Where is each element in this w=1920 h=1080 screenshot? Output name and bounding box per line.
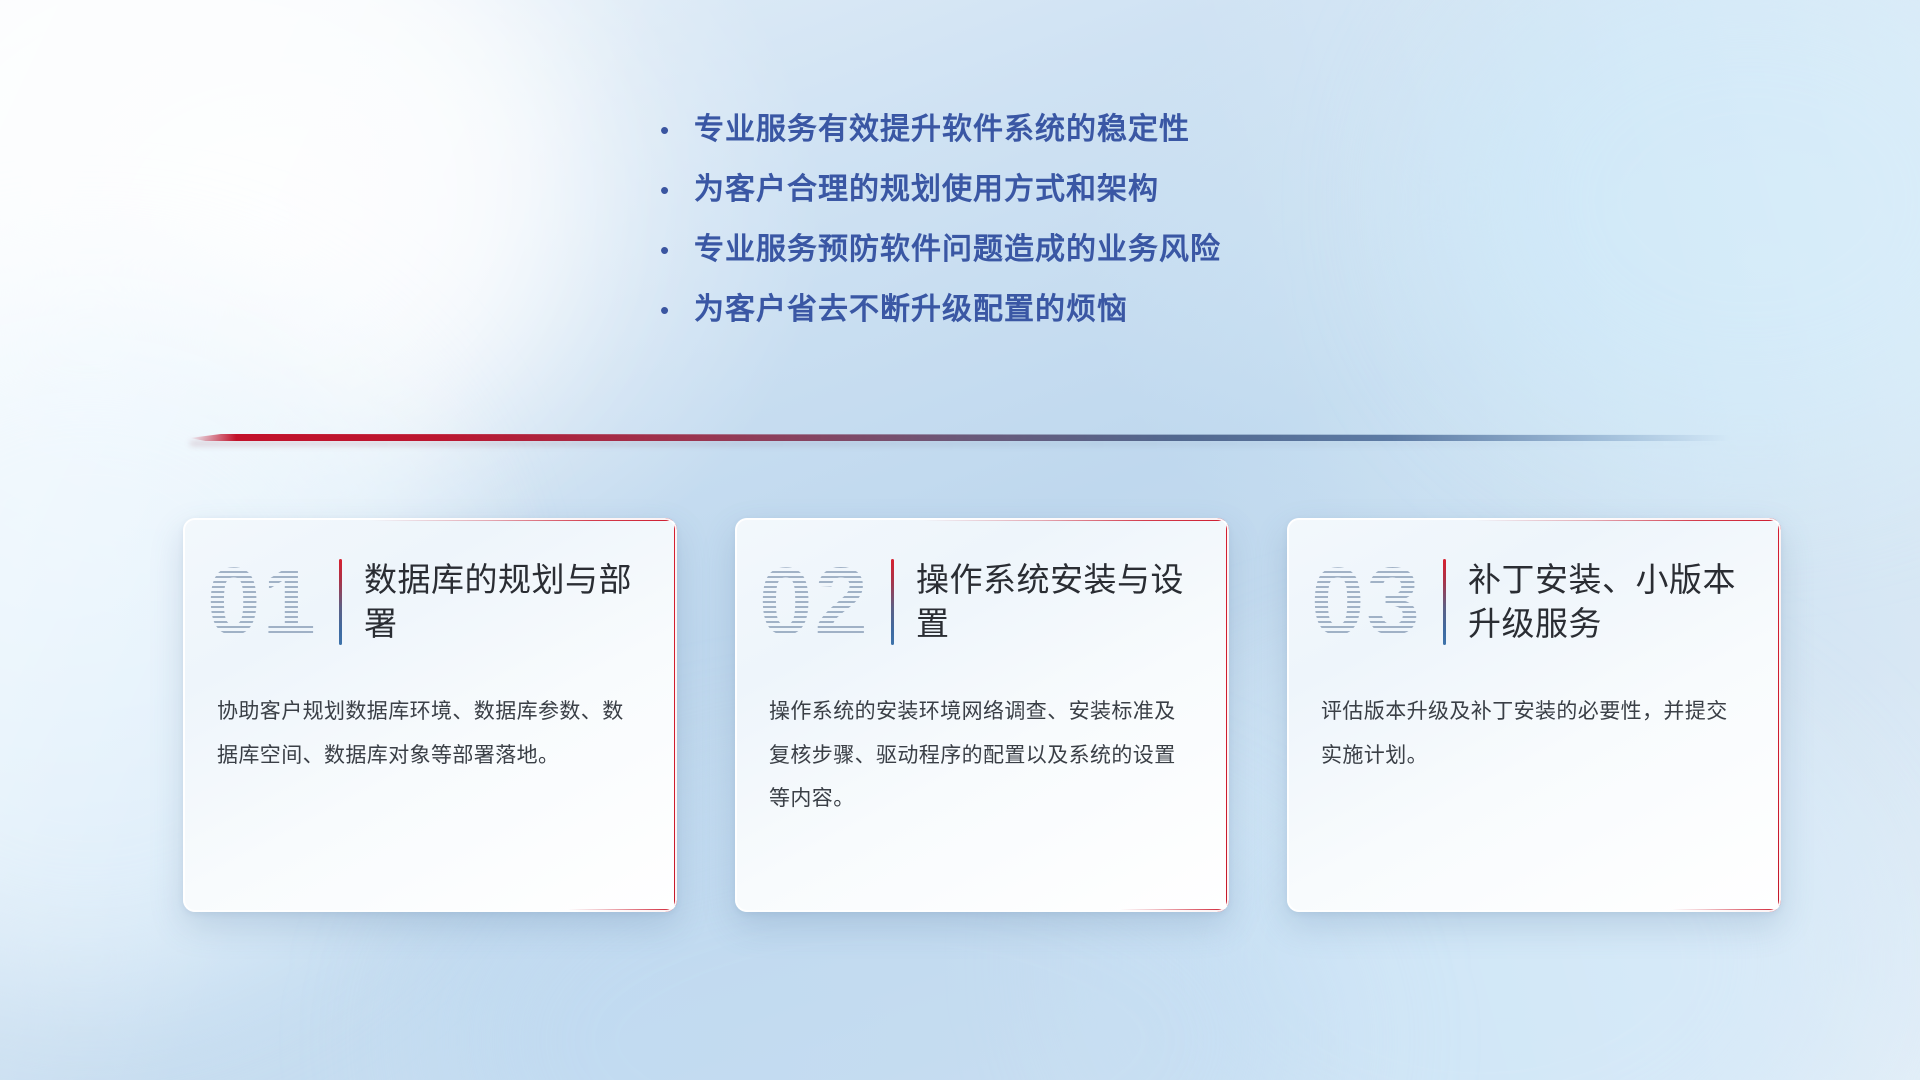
slide-root: • 专业服务有效提升软件系统的稳定性 • 为客户合理的规划使用方式和架构 • 专…	[0, 0, 1920, 1080]
benefits-bullet-list: • 专业服务有效提升软件系统的稳定性 • 为客户合理的规划使用方式和架构 • 专…	[660, 112, 1221, 328]
card-divider-rule	[891, 559, 894, 645]
card-header: 01 数据库的规划与部署	[183, 518, 677, 686]
card-description: 操作系统的安装环境网络调查、安装标准及复核步骤、驱动程序的配置以及系统的设置等内…	[735, 686, 1229, 821]
bullet-dot-icon: •	[660, 297, 694, 323]
divider-line	[190, 434, 1730, 441]
card-description: 协助客户规划数据库环境、数据库参数、数据库空间、数据库对象等部署落地。	[183, 686, 677, 777]
card-divider-rule	[339, 559, 342, 645]
bullet-item: • 为客户省去不断升级配置的烦恼	[660, 292, 1221, 328]
service-card-01[interactable]: 01 数据库的规划与部署 协助客户规划数据库环境、数据库参数、数据库空间、数据库…	[183, 518, 677, 912]
bullet-dot-icon: •	[660, 237, 694, 263]
bullet-dot-icon: •	[660, 177, 694, 203]
card-title: 操作系统安装与设置	[916, 558, 1203, 646]
card-header: 03 补丁安装、小版本升级服务	[1287, 518, 1781, 686]
bullet-item-label: 为客户省去不断升级配置的烦恼	[694, 292, 1128, 328]
card-number: 02	[759, 546, 887, 658]
service-card-03[interactable]: 03 补丁安装、小版本升级服务 评估版本升级及补丁安装的必要性，并提交实施计划。	[1287, 518, 1781, 912]
card-title: 数据库的规划与部署	[364, 558, 651, 646]
background-glow-top-left	[0, 0, 580, 500]
card-description: 评估版本升级及补丁安装的必要性，并提交实施计划。	[1287, 686, 1781, 777]
divider-shadow	[190, 441, 1730, 446]
section-divider	[190, 430, 1730, 446]
bullet-item-label: 专业服务预防软件问题造成的业务风险	[694, 232, 1221, 268]
card-number: 03	[1311, 546, 1439, 658]
service-card-list: 01 数据库的规划与部署 协助客户规划数据库环境、数据库参数、数据库空间、数据库…	[183, 518, 1783, 918]
service-card-02[interactable]: 02 操作系统安装与设置 操作系统的安装环境网络调查、安装标准及复核步骤、驱动程…	[735, 518, 1229, 912]
card-header: 02 操作系统安装与设置	[735, 518, 1229, 686]
bullet-dot-icon: •	[660, 117, 694, 143]
bullet-item-label: 为客户合理的规划使用方式和架构	[694, 172, 1159, 208]
card-title: 补丁安装、小版本升级服务	[1468, 558, 1755, 646]
bullet-item-label: 专业服务有效提升软件系统的稳定性	[694, 112, 1190, 148]
bullet-item: • 专业服务有效提升软件系统的稳定性	[660, 112, 1221, 148]
bullet-item: • 专业服务预防软件问题造成的业务风险	[660, 232, 1221, 268]
background-glow-top-right	[1440, 0, 1920, 460]
card-number: 01	[207, 546, 335, 658]
bullet-item: • 为客户合理的规划使用方式和架构	[660, 172, 1221, 208]
card-divider-rule	[1443, 559, 1446, 645]
